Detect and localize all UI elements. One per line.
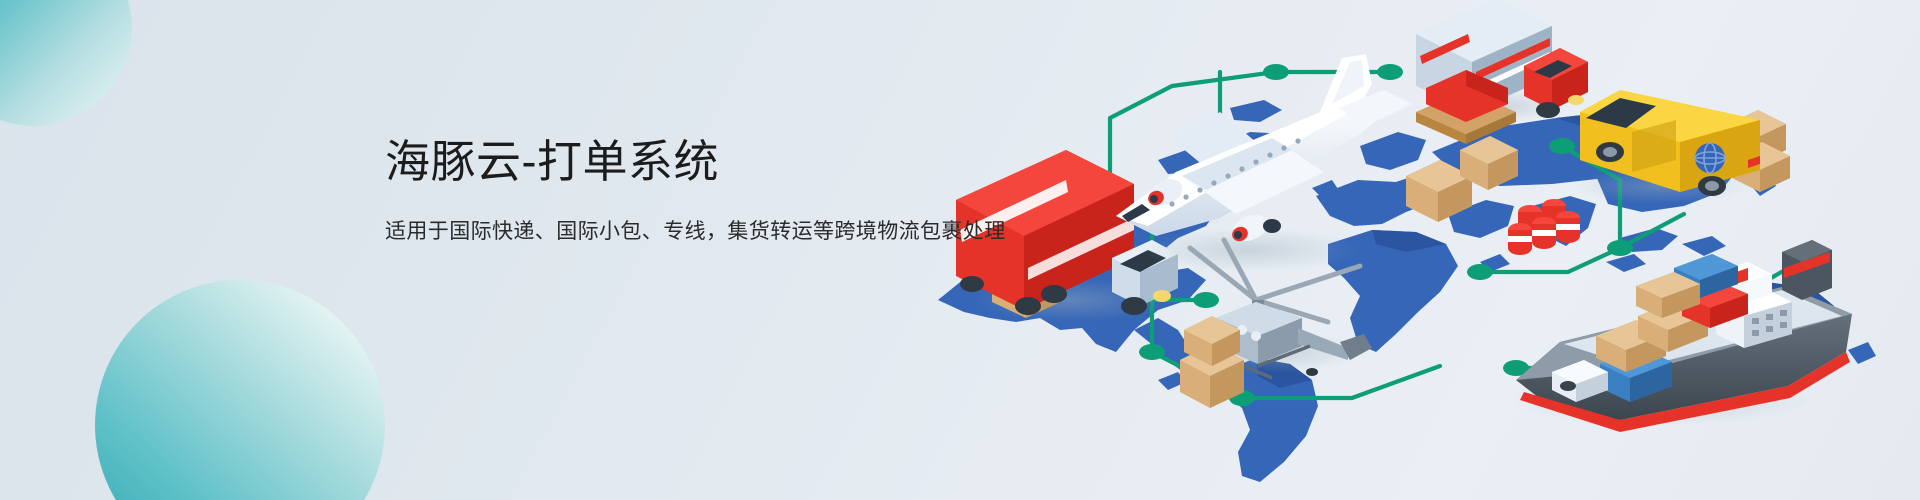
network-node — [1467, 264, 1493, 280]
network-node — [1263, 64, 1289, 80]
box-truck-wheel — [1536, 102, 1560, 118]
network-node — [1549, 138, 1575, 154]
truck-wheel — [960, 276, 984, 292]
plane-landing-gear — [1263, 219, 1281, 233]
top-left-circle-decoration — [0, 0, 132, 126]
box-truck-headlight — [1568, 95, 1584, 105]
hero-banner: 海豚云-打单系统 适用于国际快递、国际小包、专线，集货转运等跨境物流包裹处理 — [0, 0, 1920, 500]
landmass-arctic-islands-2 — [1230, 100, 1282, 122]
network-node — [1139, 344, 1165, 360]
landmass-indonesia — [1682, 236, 1726, 256]
truck-wheel — [1015, 297, 1041, 315]
landmass-new-zealand — [1848, 342, 1876, 364]
heli-wheel — [1306, 368, 1318, 376]
bottom-left-circle-decoration — [95, 280, 385, 500]
landmass-island-small — [1606, 254, 1646, 272]
global-logistics-illustration — [920, 0, 1920, 500]
network-node — [1607, 240, 1633, 256]
cargo-ship — [1510, 240, 1852, 432]
truck-wheel — [1041, 285, 1067, 303]
network-node — [1377, 64, 1403, 80]
cardboard-boxes-south — [1180, 316, 1244, 408]
page-subtitle: 适用于国际快递、国际小包、专线，集货转运等跨境物流包裹处理 — [385, 216, 1006, 248]
yellow-delivery-van — [1572, 90, 1790, 204]
network-node — [1193, 292, 1219, 308]
ship-porthole — [1560, 381, 1576, 391]
hero-text-block: 海豚云-打单系统 适用于国际快递、国际小包、专线，集货转运等跨境物流包裹处理 — [385, 135, 1006, 248]
landmass-scandinavia — [1360, 132, 1426, 170]
page-title: 海豚云-打单系统 — [385, 135, 1006, 188]
truck-wheel — [1121, 297, 1147, 315]
cab-headlight — [1153, 290, 1171, 302]
heli-window — [1251, 331, 1261, 341]
